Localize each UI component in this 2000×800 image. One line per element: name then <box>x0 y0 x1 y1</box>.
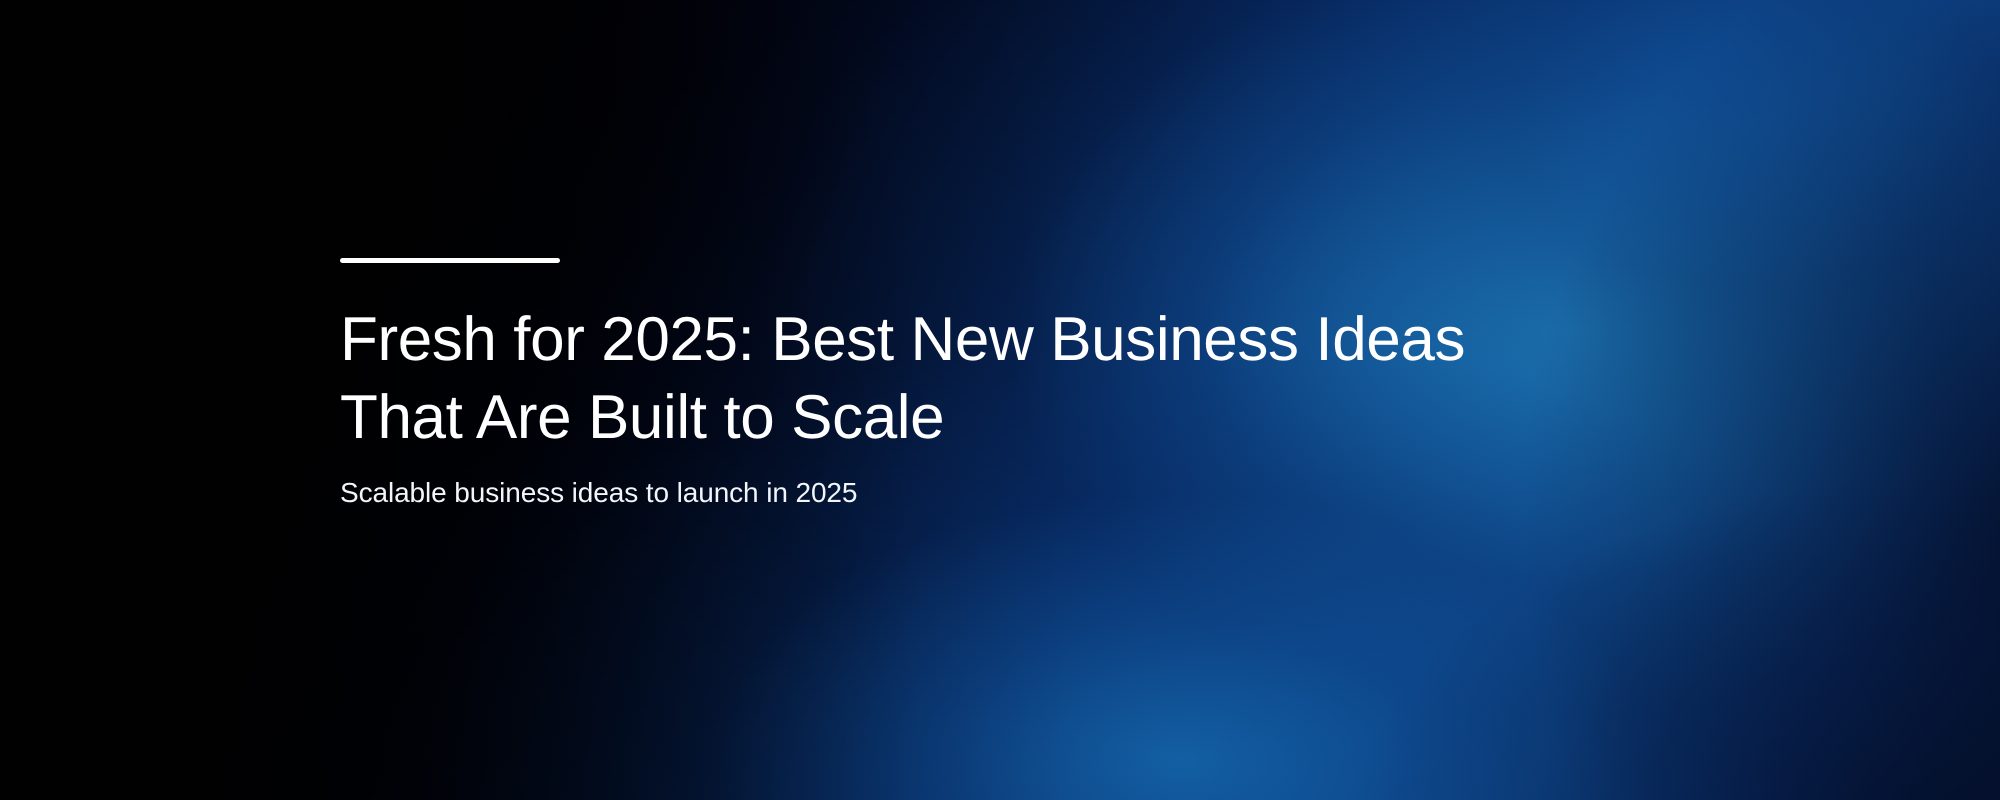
accent-rule <box>340 258 560 263</box>
page-title: Fresh for 2025: Best New Business Ideas … <box>340 301 1470 457</box>
hero-content: Fresh for 2025: Best New Business Ideas … <box>340 258 1540 511</box>
page-subtitle: Scalable business ideas to launch in 202… <box>340 475 1540 511</box>
hero-banner: Fresh for 2025: Best New Business Ideas … <box>0 0 2000 800</box>
